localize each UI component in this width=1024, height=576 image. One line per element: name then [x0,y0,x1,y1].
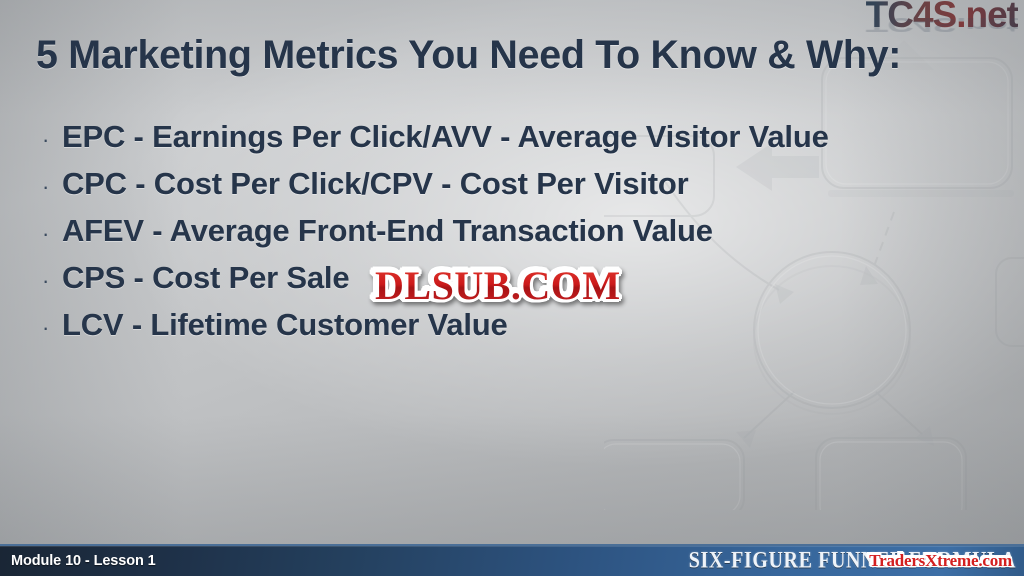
list-item-label: CPS - Cost Per Sale [62,260,349,296]
bullet-dot-icon: · [36,176,62,198]
bullet-dot-icon: · [36,129,62,151]
list-item-label: EPC - Earnings Per Click/AVV - Average V… [62,119,829,155]
list-item-label: LCV - Lifetime Customer Value [62,307,508,343]
footer-bar: Module 10 - Lesson 1 SIX-FIGURE FUNNEL F… [0,544,1024,576]
watermark-tradersxtreme: TradersXtreme.com [869,551,1012,571]
list-item: · CPC - Cost Per Click/CPV - Cost Per Vi… [36,166,996,213]
bullet-dot-icon: · [36,317,62,339]
watermark-tc4s-reflection: TC4S.net [818,15,1018,35]
metrics-list: · EPC - Earnings Per Click/AVV - Average… [36,119,996,354]
bullet-dot-icon: · [36,270,62,292]
list-item: · EPC - Earnings Per Click/AVV - Average… [36,119,996,166]
page-title: 5 Marketing Metrics You Need To Know & W… [36,33,901,78]
slide-canvas: 5 Marketing Metrics You Need To Know & W… [0,0,1024,576]
list-item: · LCV - Lifetime Customer Value [36,307,996,354]
bullet-dot-icon: · [36,223,62,245]
list-item: · CPS - Cost Per Sale [36,260,996,307]
list-item: · AFEV - Average Front-End Transaction V… [36,213,996,260]
module-lesson-label: Module 10 - Lesson 1 [11,553,156,569]
watermark-tc4s-text: TC4S.net [818,0,1018,33]
list-item-label: AFEV - Average Front-End Transaction Val… [62,213,713,249]
list-item-label: CPC - Cost Per Click/CPV - Cost Per Visi… [62,166,689,202]
